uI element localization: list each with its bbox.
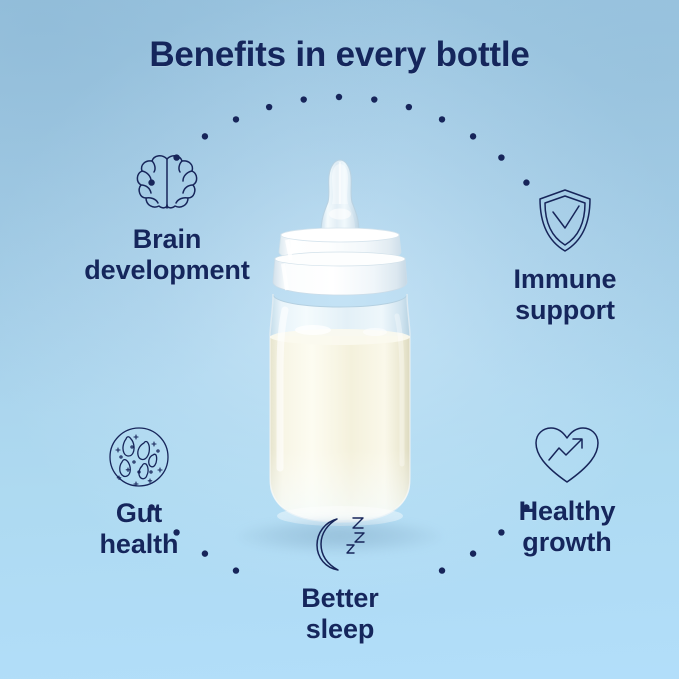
brain-icon [52,150,282,216]
benefit-better-sleep: Better sleep [225,513,455,646]
benefit-immune-support: Immune support [450,186,679,327]
page-title: Benefits in every bottle [0,35,679,75]
benefit-label: Gut health [24,498,254,561]
ring-dot [470,133,476,139]
benefit-label: Immune support [450,264,679,327]
ring-dot [371,96,377,102]
benefit-label: Better sleep [225,583,455,646]
ring-dot [266,104,272,110]
ring-dot [233,116,239,122]
benefit-label: Healthy growth [452,496,679,559]
benefit-healthy-growth: Healthy growth [452,424,679,559]
ring-dot [406,104,412,110]
heart-trend-icon [452,424,679,488]
ring-dot [439,116,445,122]
gut-bacteria-icon [24,424,254,490]
bottle-body [270,294,410,528]
bottle-collar [273,228,407,295]
benefit-label: Brain development [52,224,282,287]
benefit-brain-development: Brain development [52,150,282,287]
bottle-teat [321,160,359,232]
ring-dot [301,96,307,102]
ring-dot [498,154,504,160]
infographic-canvas: Benefits in every bottle Brain developme… [0,0,679,679]
ring-dot [523,179,529,185]
benefit-gut-health: Gut health [24,424,254,561]
moon-zzz-icon [225,513,455,575]
ring-dot [336,94,342,100]
ring-dot [202,133,208,139]
shield-check-icon [450,186,679,256]
